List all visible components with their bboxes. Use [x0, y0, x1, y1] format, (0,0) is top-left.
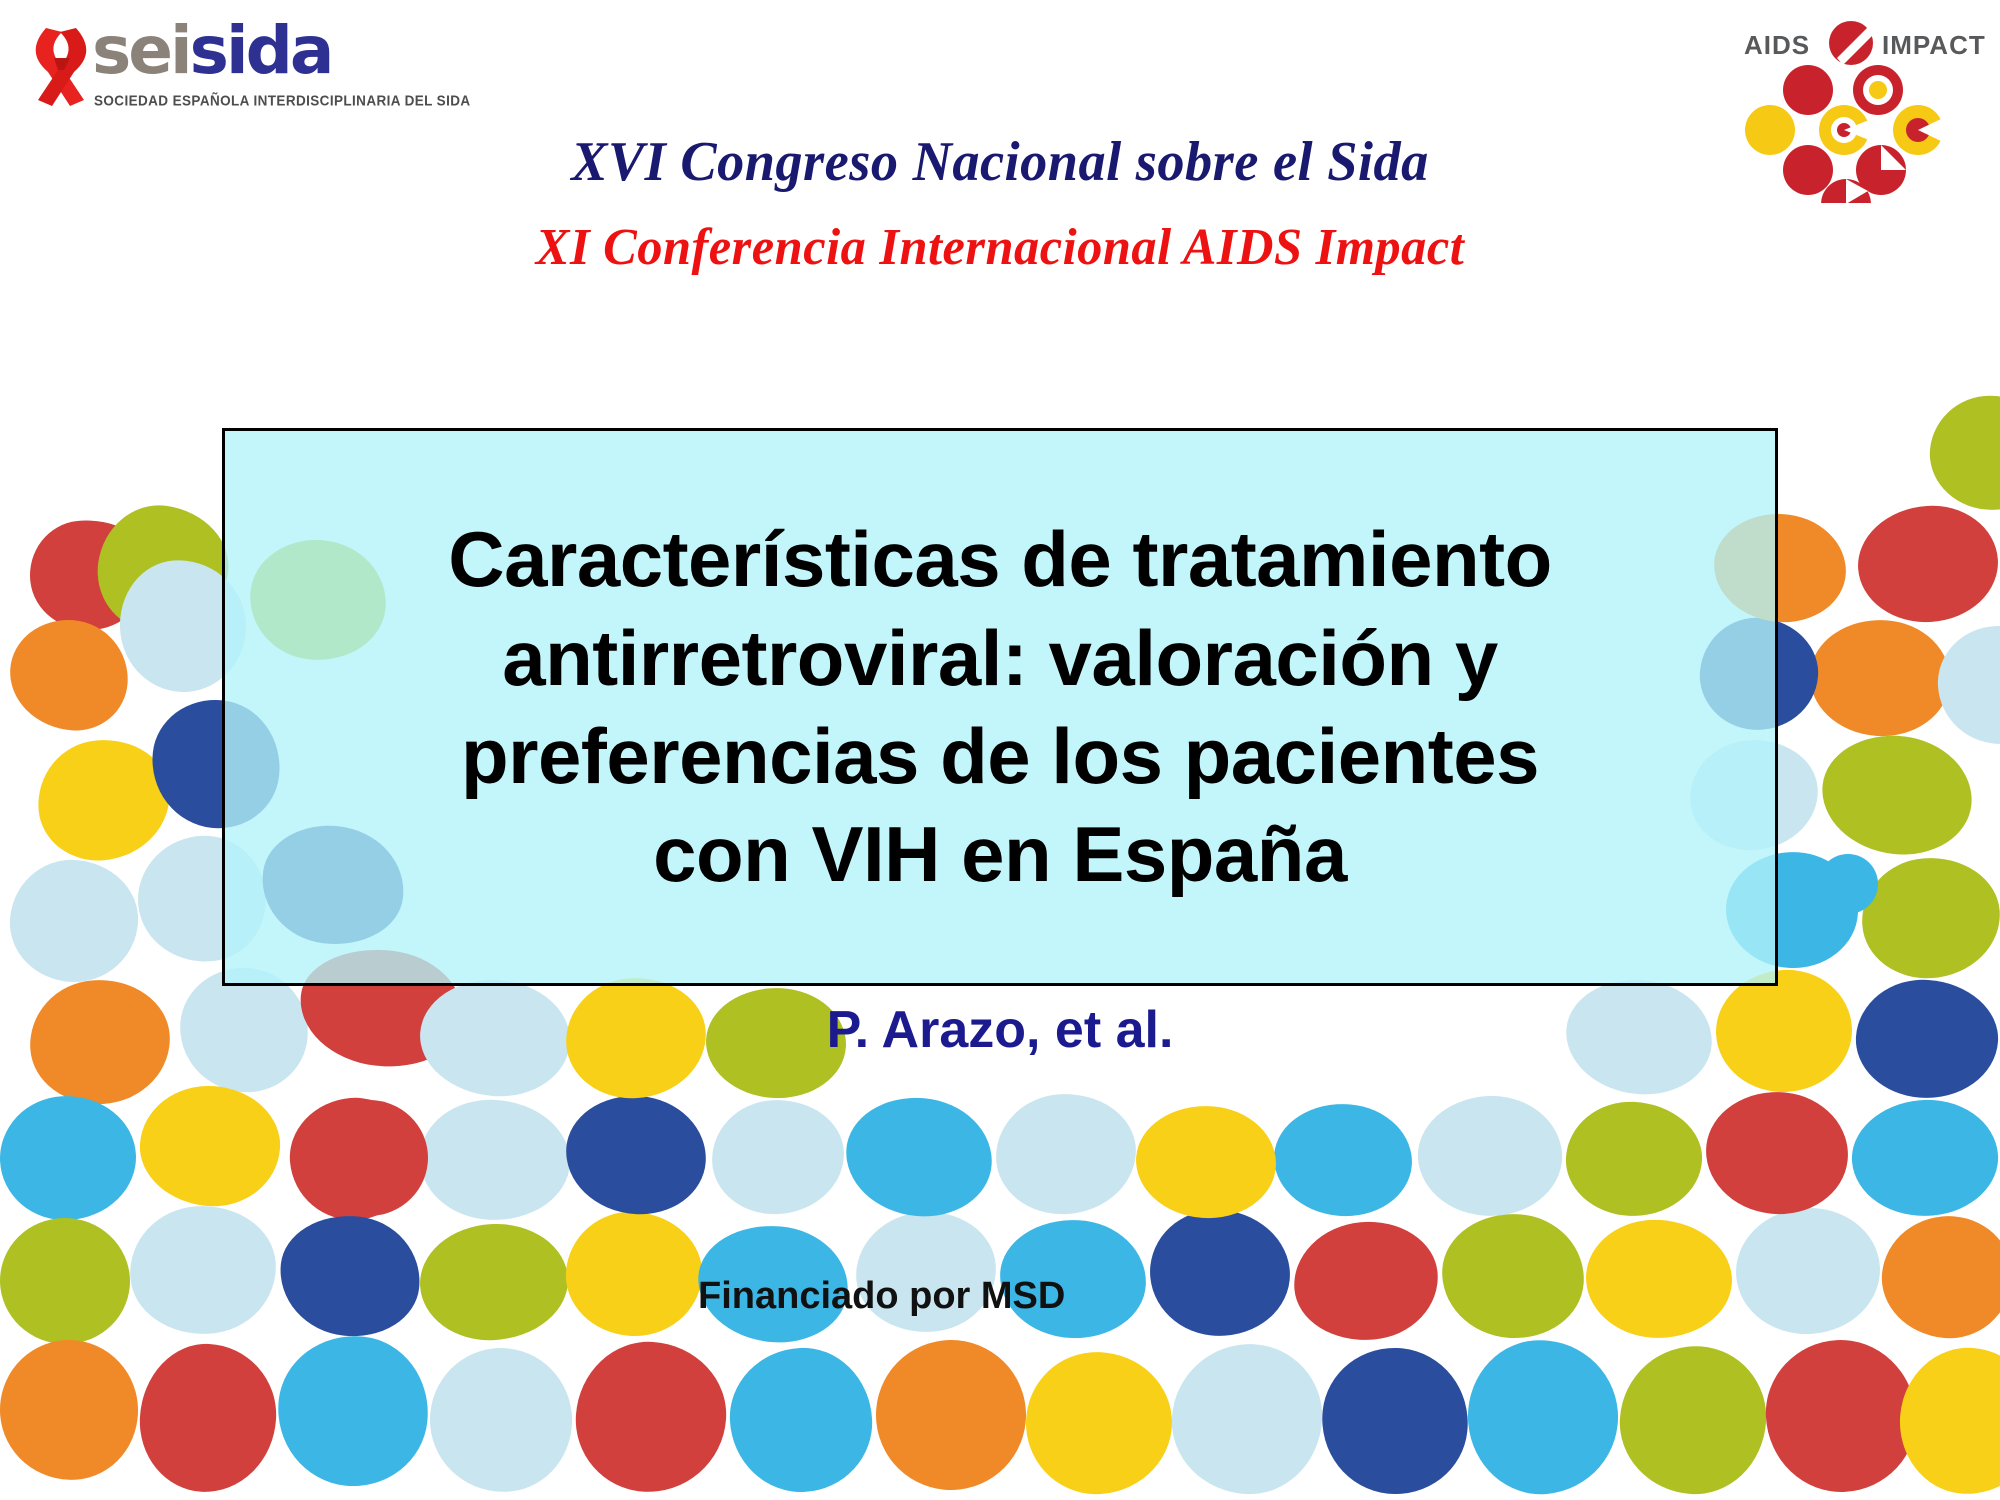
mosaic-pebble [6, 616, 131, 734]
mosaic-pebble [33, 734, 175, 865]
mosaic-pebble [1924, 390, 2000, 517]
conference-title-secondary: XI Conferencia Internacional AIDS Impact [30, 218, 1970, 277]
mosaic-pebble [993, 1090, 1139, 1217]
mosaic-pebble [1877, 1211, 2000, 1344]
mosaic-pebble [417, 1096, 573, 1224]
mosaic-pebble [1615, 1341, 1771, 1499]
mosaic-pebble [1818, 854, 1878, 914]
mosaic-pebble [0, 1213, 135, 1350]
mosaic-pebble [136, 1341, 280, 1496]
mosaic-pebble [1858, 853, 2000, 982]
seisida-tagline: SOCIEDAD ESPAÑOLA INTERDISCIPLINARIA DEL… [94, 92, 471, 109]
mosaic-pebble [1894, 1342, 2000, 1500]
mosaic-pebble [1854, 501, 2000, 626]
mosaic-pebble [1583, 1216, 1735, 1341]
seisida-word-sida: sida [190, 12, 332, 89]
mosaic-pebble [126, 1201, 281, 1339]
mosaic-pebble [1144, 1203, 1296, 1343]
mosaic-pebble [25, 514, 156, 636]
mosaic-pebble [1021, 1347, 1177, 1499]
mosaic-pebble [285, 1093, 421, 1226]
authors-line: P. Arazo, et al. [0, 1000, 2000, 1060]
mosaic-pebble [1816, 728, 1978, 861]
mosaic-pebble [1168, 1340, 1326, 1498]
mosaic-pebble [562, 1091, 710, 1218]
title-line-1: Características de tratamiento [448, 510, 1551, 608]
conference-title-primary: XVI Congreso Nacional sobre el Sida [30, 130, 1970, 194]
mosaic-pebble [1269, 1098, 1416, 1222]
presentation-slide: seisida SOCIEDAD ESPAÑOLA INTERDISCIPLIN… [0, 0, 2000, 1500]
mosaic-pebble [1414, 1091, 1566, 1221]
mosaic-pebble [0, 1335, 143, 1484]
mosaic-pebble [1132, 1101, 1279, 1222]
mosaic-pebble [136, 1081, 284, 1210]
mosaic-pebble [562, 1207, 706, 1340]
mosaic-pebble [271, 1329, 436, 1494]
mosaic-pebble [0, 1093, 139, 1224]
mosaic-pebble [1847, 1094, 2000, 1222]
mosaic-pebble [424, 1342, 578, 1498]
mosaic-pebble [1732, 1203, 1884, 1339]
presentation-title-box: Características de tratamiento antirretr… [222, 428, 1778, 986]
mosaic-pebble [274, 1209, 426, 1343]
mosaic-pebble [841, 1092, 997, 1222]
mosaic-pebble [1762, 1336, 1920, 1496]
title-line-4: con VIH en España [653, 805, 1347, 903]
mosaic-pebble [1700, 1085, 1854, 1221]
mosaic-pebble [1289, 1216, 1443, 1346]
funding-note: Financiado por MSD [698, 1275, 1065, 1318]
seisida-logo: seisida SOCIEDAD ESPAÑOLA INTERDISCIPLIN… [14, 14, 364, 126]
mosaic-pebble [7, 857, 141, 986]
mosaic-pebble [1563, 1099, 1705, 1220]
seisida-word-sei: sei [92, 12, 190, 89]
mosaic-pebble [1315, 1341, 1475, 1500]
mosaic-pebble [1462, 1334, 1625, 1500]
title-line-2: antirretroviral: valoración y [502, 609, 1498, 707]
mosaic-pebble [1935, 623, 2000, 747]
mosaic-pebble [417, 1220, 571, 1344]
mosaic-pebble [90, 498, 236, 641]
mosaic-pebble [304, 1094, 433, 1222]
mosaic-pebble [1438, 1209, 1588, 1343]
mosaic-pebble [709, 1097, 847, 1218]
mosaic-pebble [571, 1337, 731, 1497]
title-line-3: preferencias de los pacientes [461, 707, 1539, 805]
mosaic-pebble [1806, 615, 1954, 740]
mosaic-pebble [726, 1344, 875, 1495]
seisida-wordmark: seisida [92, 18, 331, 84]
mosaic-pebble [870, 1334, 1033, 1497]
